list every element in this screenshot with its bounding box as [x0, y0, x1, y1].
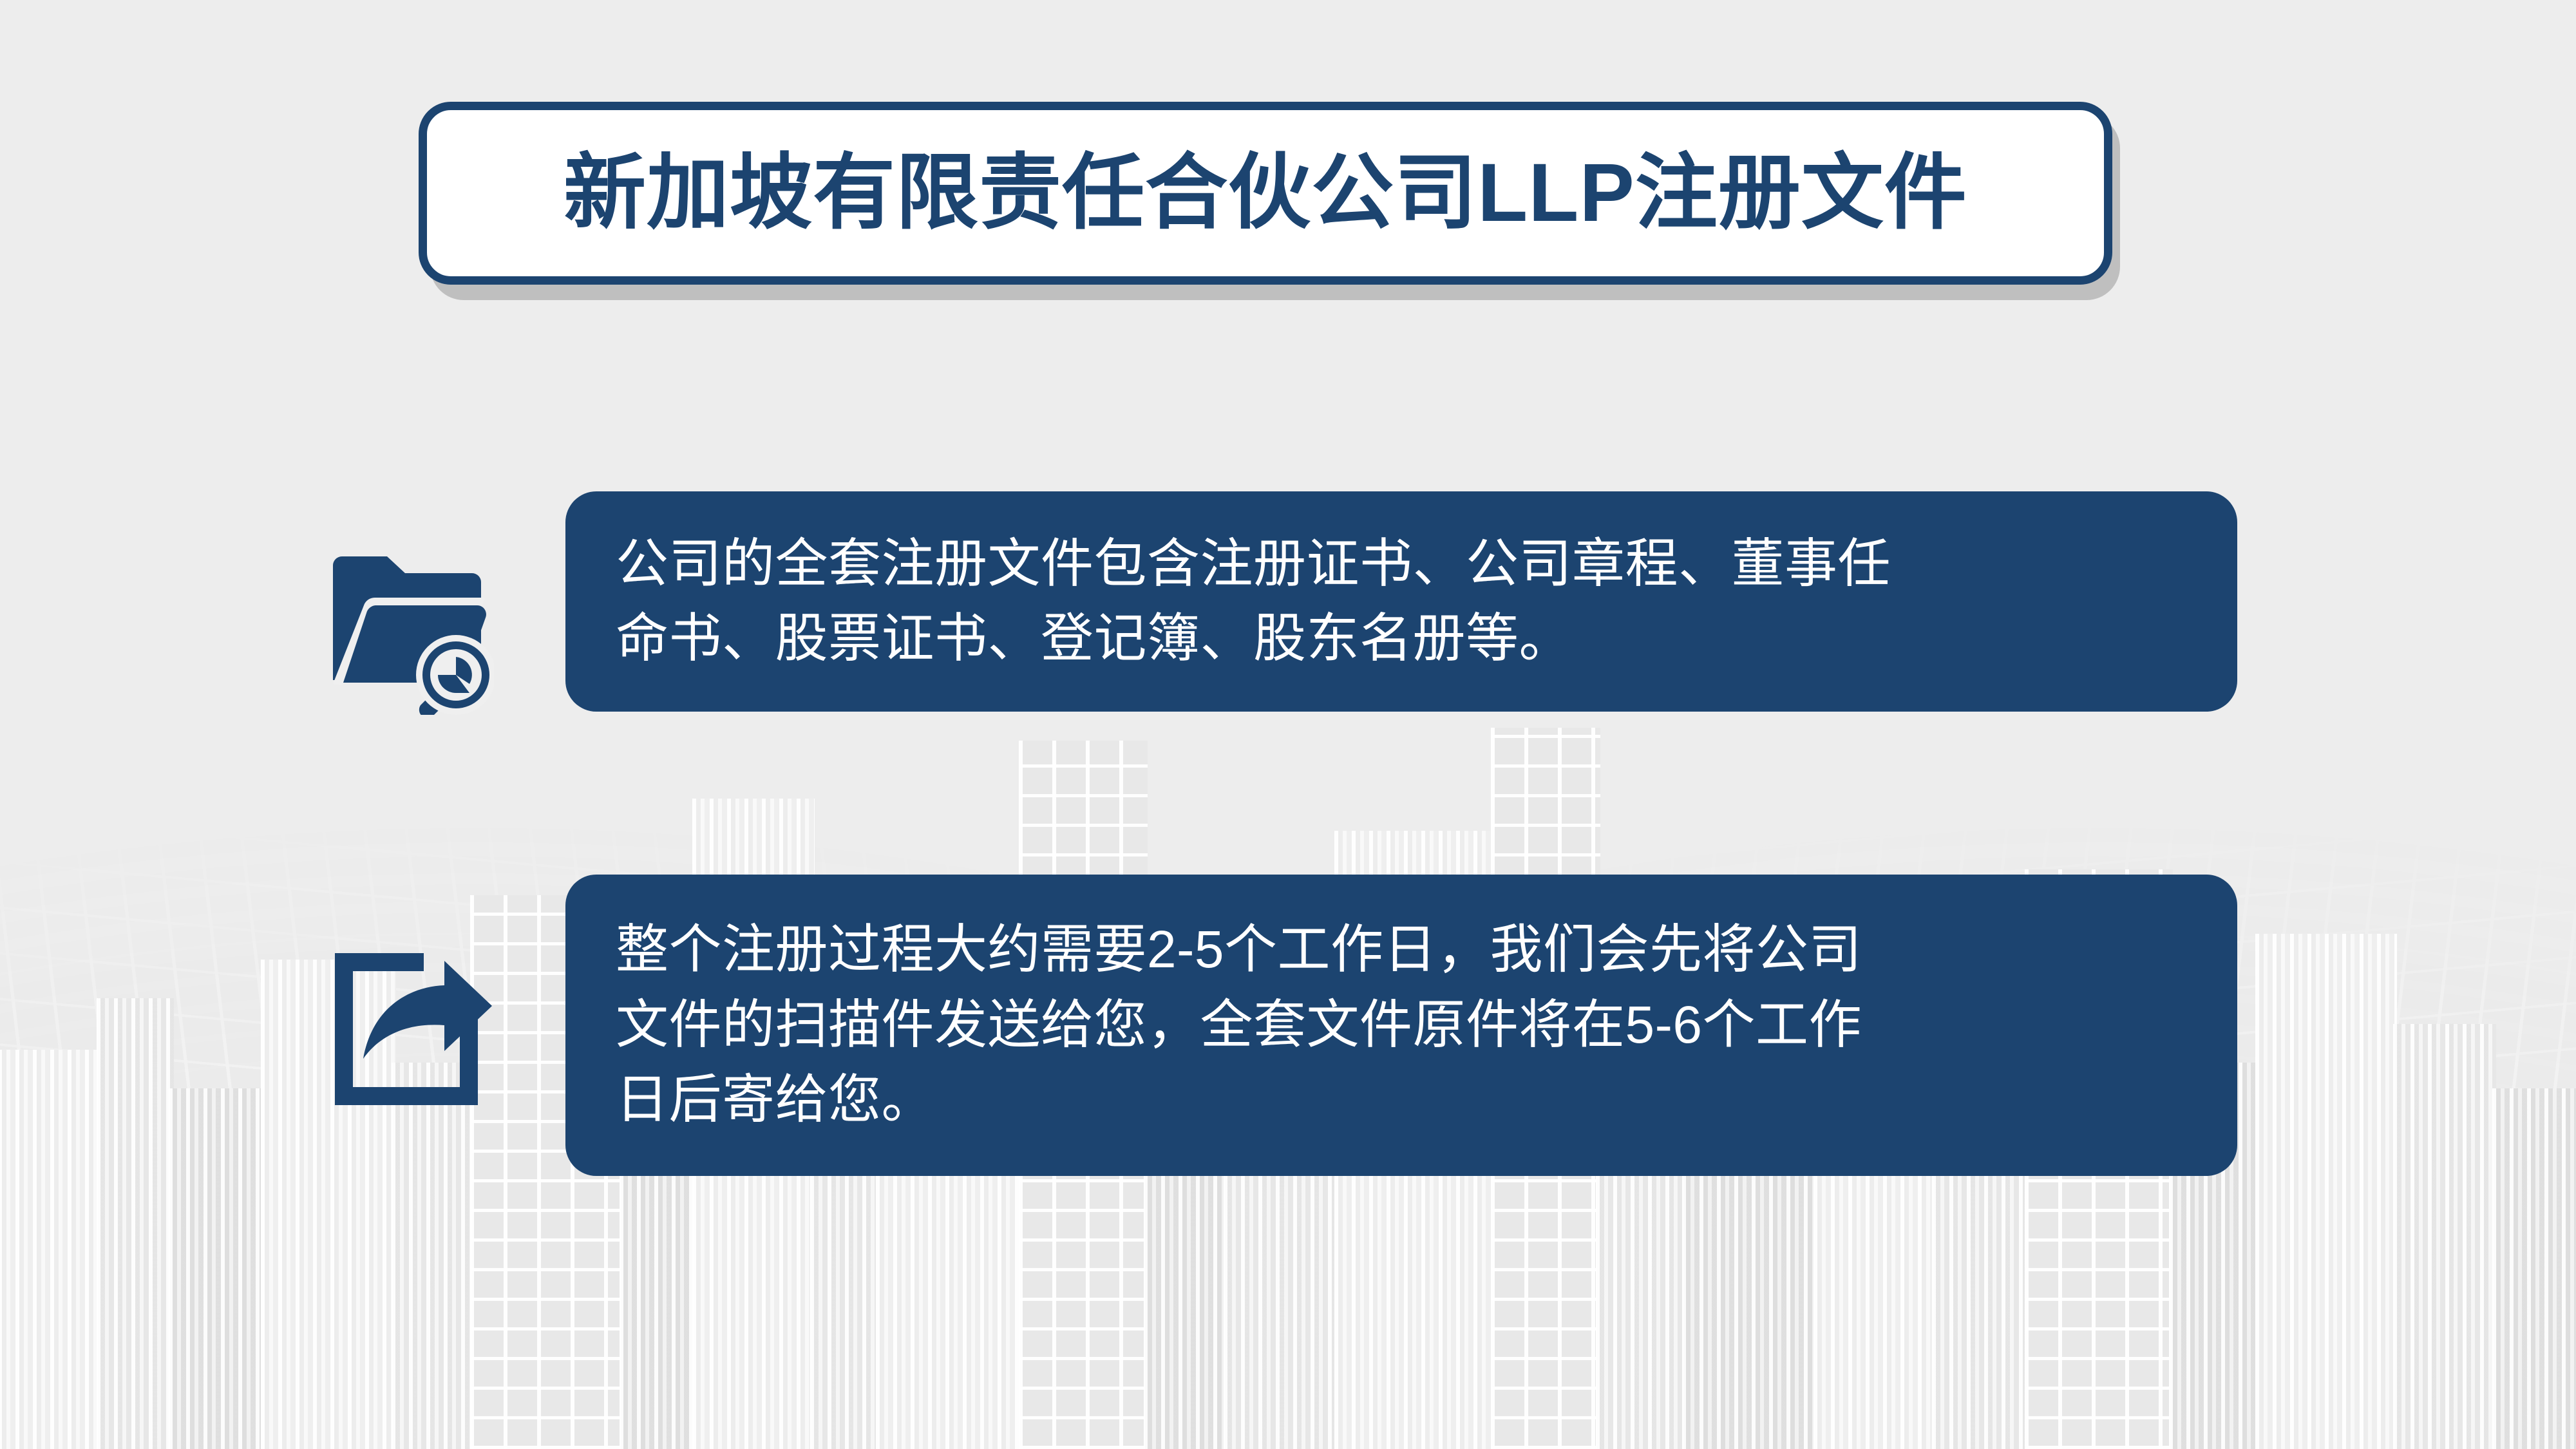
- info-card-timeline: 整个注册过程大约需要2-5个工作日，我们会先将公司 文件的扫描件发送给您，全套文…: [565, 875, 2237, 1176]
- share-export-icon: [327, 945, 496, 1105]
- card2-line-3: 日后寄给您。: [616, 1063, 1862, 1137]
- building-facade-left: [0, 125, 1860, 1449]
- card1-line-2: 命书、股票证书、登记簿、股东名册等。: [616, 601, 1891, 676]
- page-title: 新加坡有限责任合伙公司LLP注册文件: [563, 152, 1967, 234]
- page-title-plaque: 新加坡有限责任合伙公司LLP注册文件: [419, 102, 2112, 285]
- card1-line-1: 公司的全套注册文件包含注册证书、公司章程、董事任: [616, 527, 1891, 601]
- tower: [0, 1050, 103, 1449]
- tower: [97, 998, 174, 1449]
- tower: [2393, 1024, 2496, 1449]
- card2-line-1: 整个注册过程大约需要2-5个工作日，我们会先将公司: [616, 913, 1862, 987]
- slide-canvas: 新加坡有限责任合伙公司LLP注册文件 公司的全套注册文件包含注册证书、公司章程、…: [0, 0, 2576, 1449]
- tower: [169, 1088, 265, 1449]
- info-card-documents-text: 公司的全套注册文件包含注册证书、公司章程、董事任 命书、股票证书、登记簿、股东名…: [565, 527, 1941, 677]
- info-card-documents: 公司的全套注册文件包含注册证书、公司章程、董事任 命书、股票证书、登记簿、股东名…: [565, 491, 2237, 712]
- folder-search-icon: [325, 546, 494, 715]
- tower: [2255, 934, 2397, 1449]
- info-card-timeline-text: 整个注册过程大约需要2-5个工作日，我们会先将公司 文件的扫描件发送给您，全套文…: [565, 913, 1912, 1137]
- card2-line-2: 文件的扫描件发送给您，全套文件原件将在5-6个工作: [616, 988, 1862, 1063]
- tower: [392, 1063, 475, 1449]
- tower: [2492, 1088, 2576, 1449]
- building-facade-right: [716, 125, 2576, 1449]
